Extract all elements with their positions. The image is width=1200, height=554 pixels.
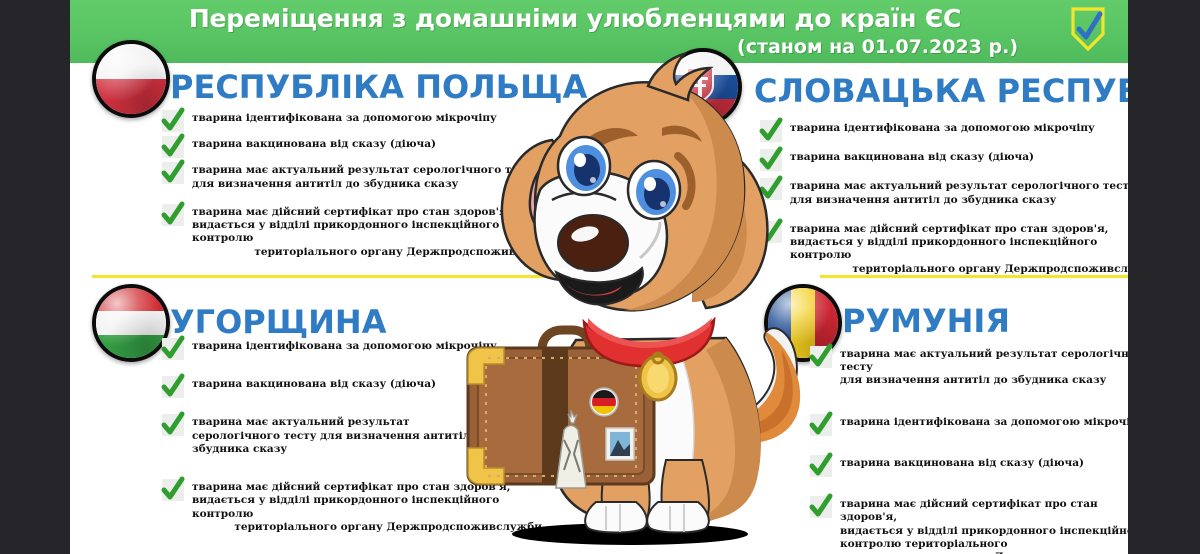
- country-title-hungary: УГОРЩИНА: [170, 303, 386, 341]
- requirement-text: тварина має актуальний результат серолог…: [790, 180, 1128, 206]
- requirement-item: тварина ідентифікована за допомогою мікр…: [810, 416, 1128, 429]
- requirements-romania: тварина має актуальний результат серолог…: [810, 348, 1128, 554]
- flag-poland-icon: [92, 40, 170, 118]
- shield-check-icon: [1070, 6, 1106, 52]
- check-icon: [162, 414, 184, 436]
- check-icon: [162, 110, 184, 132]
- requirement-text: тварина ідентифікована за допомогою мікр…: [840, 416, 1128, 429]
- requirement-text: тварина вакцинована від сказу (діюча): [840, 457, 1128, 470]
- requirement-item: тварина має дійсний сертифікат про стан …: [810, 498, 1128, 554]
- requirement-text: тварина має актуальний результат серолог…: [840, 348, 1128, 388]
- requirement-item: тварина вакцинована від сказу (діюча): [810, 457, 1128, 470]
- requirement-text: тварина ідентифікована за допомогою мікр…: [790, 122, 1128, 135]
- check-icon: [162, 204, 184, 226]
- requirement-item: тварина має актуальний результат серолог…: [810, 348, 1128, 388]
- infographic-page: Переміщення з домашніми улюбленцями до к…: [70, 0, 1128, 554]
- requirement-text: тварина вакцинована від сказу (діюча): [790, 151, 1128, 164]
- requirement-text: тварина має дійсний сертифікат про стан …: [790, 223, 1128, 276]
- check-icon: [162, 136, 184, 158]
- check-icon: [162, 479, 184, 501]
- page-title: Переміщення з домашніми улюбленцями до к…: [70, 4, 1080, 33]
- check-icon: [162, 162, 184, 184]
- flag-hungary-icon: [92, 284, 170, 362]
- check-icon: [162, 376, 184, 398]
- infographic-canvas: Переміщення з домашніми улюбленцями до к…: [0, 0, 1200, 554]
- check-icon: [162, 338, 184, 360]
- requirement-text: тварина має дійсний сертифікат про стан …: [840, 498, 1128, 554]
- country-title-romania: РУМУНІЯ: [842, 302, 1010, 340]
- puppy-mascot-illustration: [430, 40, 830, 554]
